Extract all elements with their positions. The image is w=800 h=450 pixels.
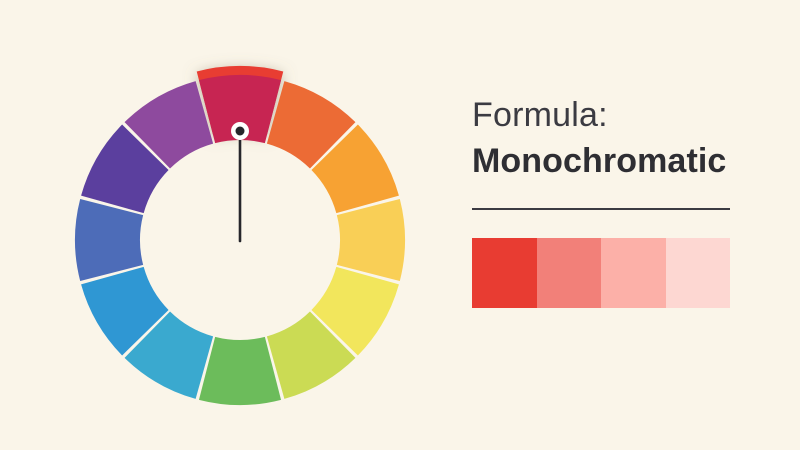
color-wheel-svg[interactable] bbox=[0, 0, 470, 450]
swatch-base[interactable] bbox=[472, 238, 537, 308]
formula-info-panel: Formula: Monochromatic bbox=[472, 96, 772, 308]
swatch-tint-1[interactable] bbox=[537, 238, 602, 308]
formula-value: Monochromatic bbox=[472, 142, 772, 180]
color-wheel-panel[interactable] bbox=[0, 0, 470, 450]
wheel-segment-green[interactable] bbox=[199, 337, 281, 405]
swatch-row[interactable] bbox=[472, 238, 730, 308]
wheel-segment-yellow-amber[interactable] bbox=[337, 199, 405, 281]
pointer-knob-center[interactable] bbox=[236, 127, 245, 136]
swatch-tint-3[interactable] bbox=[666, 238, 731, 308]
wheel-segment-indigo[interactable] bbox=[75, 199, 143, 281]
color-wheel-scene: Formula: Monochromatic bbox=[0, 0, 800, 450]
divider bbox=[472, 208, 730, 210]
swatch-tint-2[interactable] bbox=[601, 238, 666, 308]
formula-label: Formula: bbox=[472, 96, 772, 134]
